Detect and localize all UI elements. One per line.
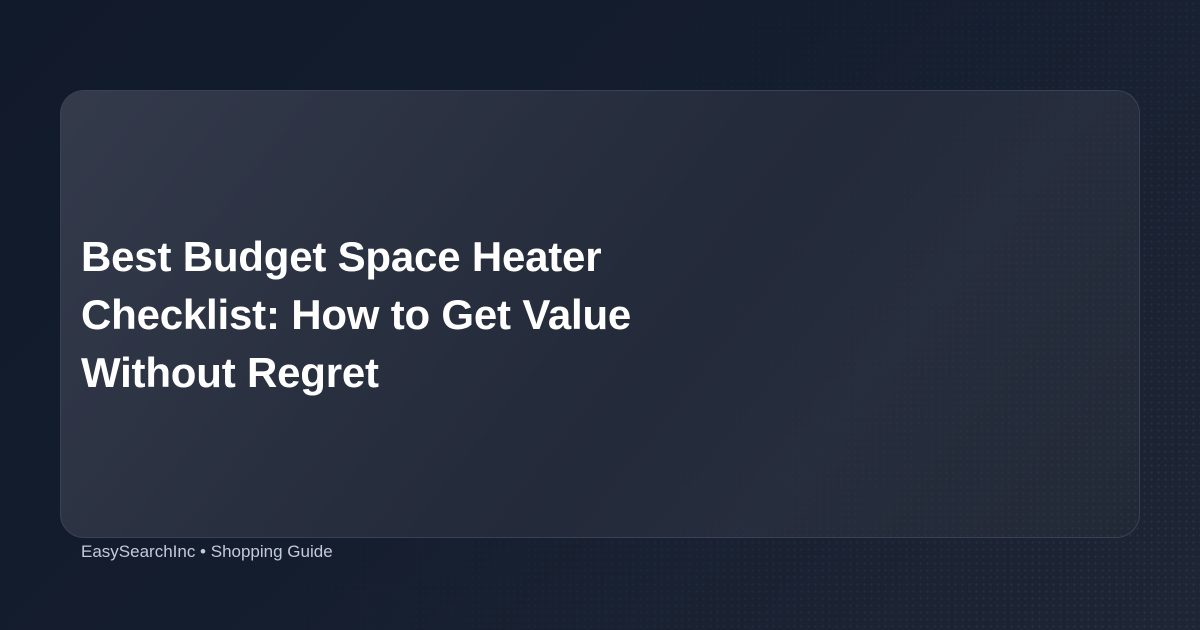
og-image-canvas: Best Budget Space Heater Checklist: How …	[0, 0, 1200, 630]
page-title: Best Budget Space Heater Checklist: How …	[81, 228, 721, 402]
breadcrumb: EasySearchInc • Shopping Guide	[81, 541, 333, 563]
